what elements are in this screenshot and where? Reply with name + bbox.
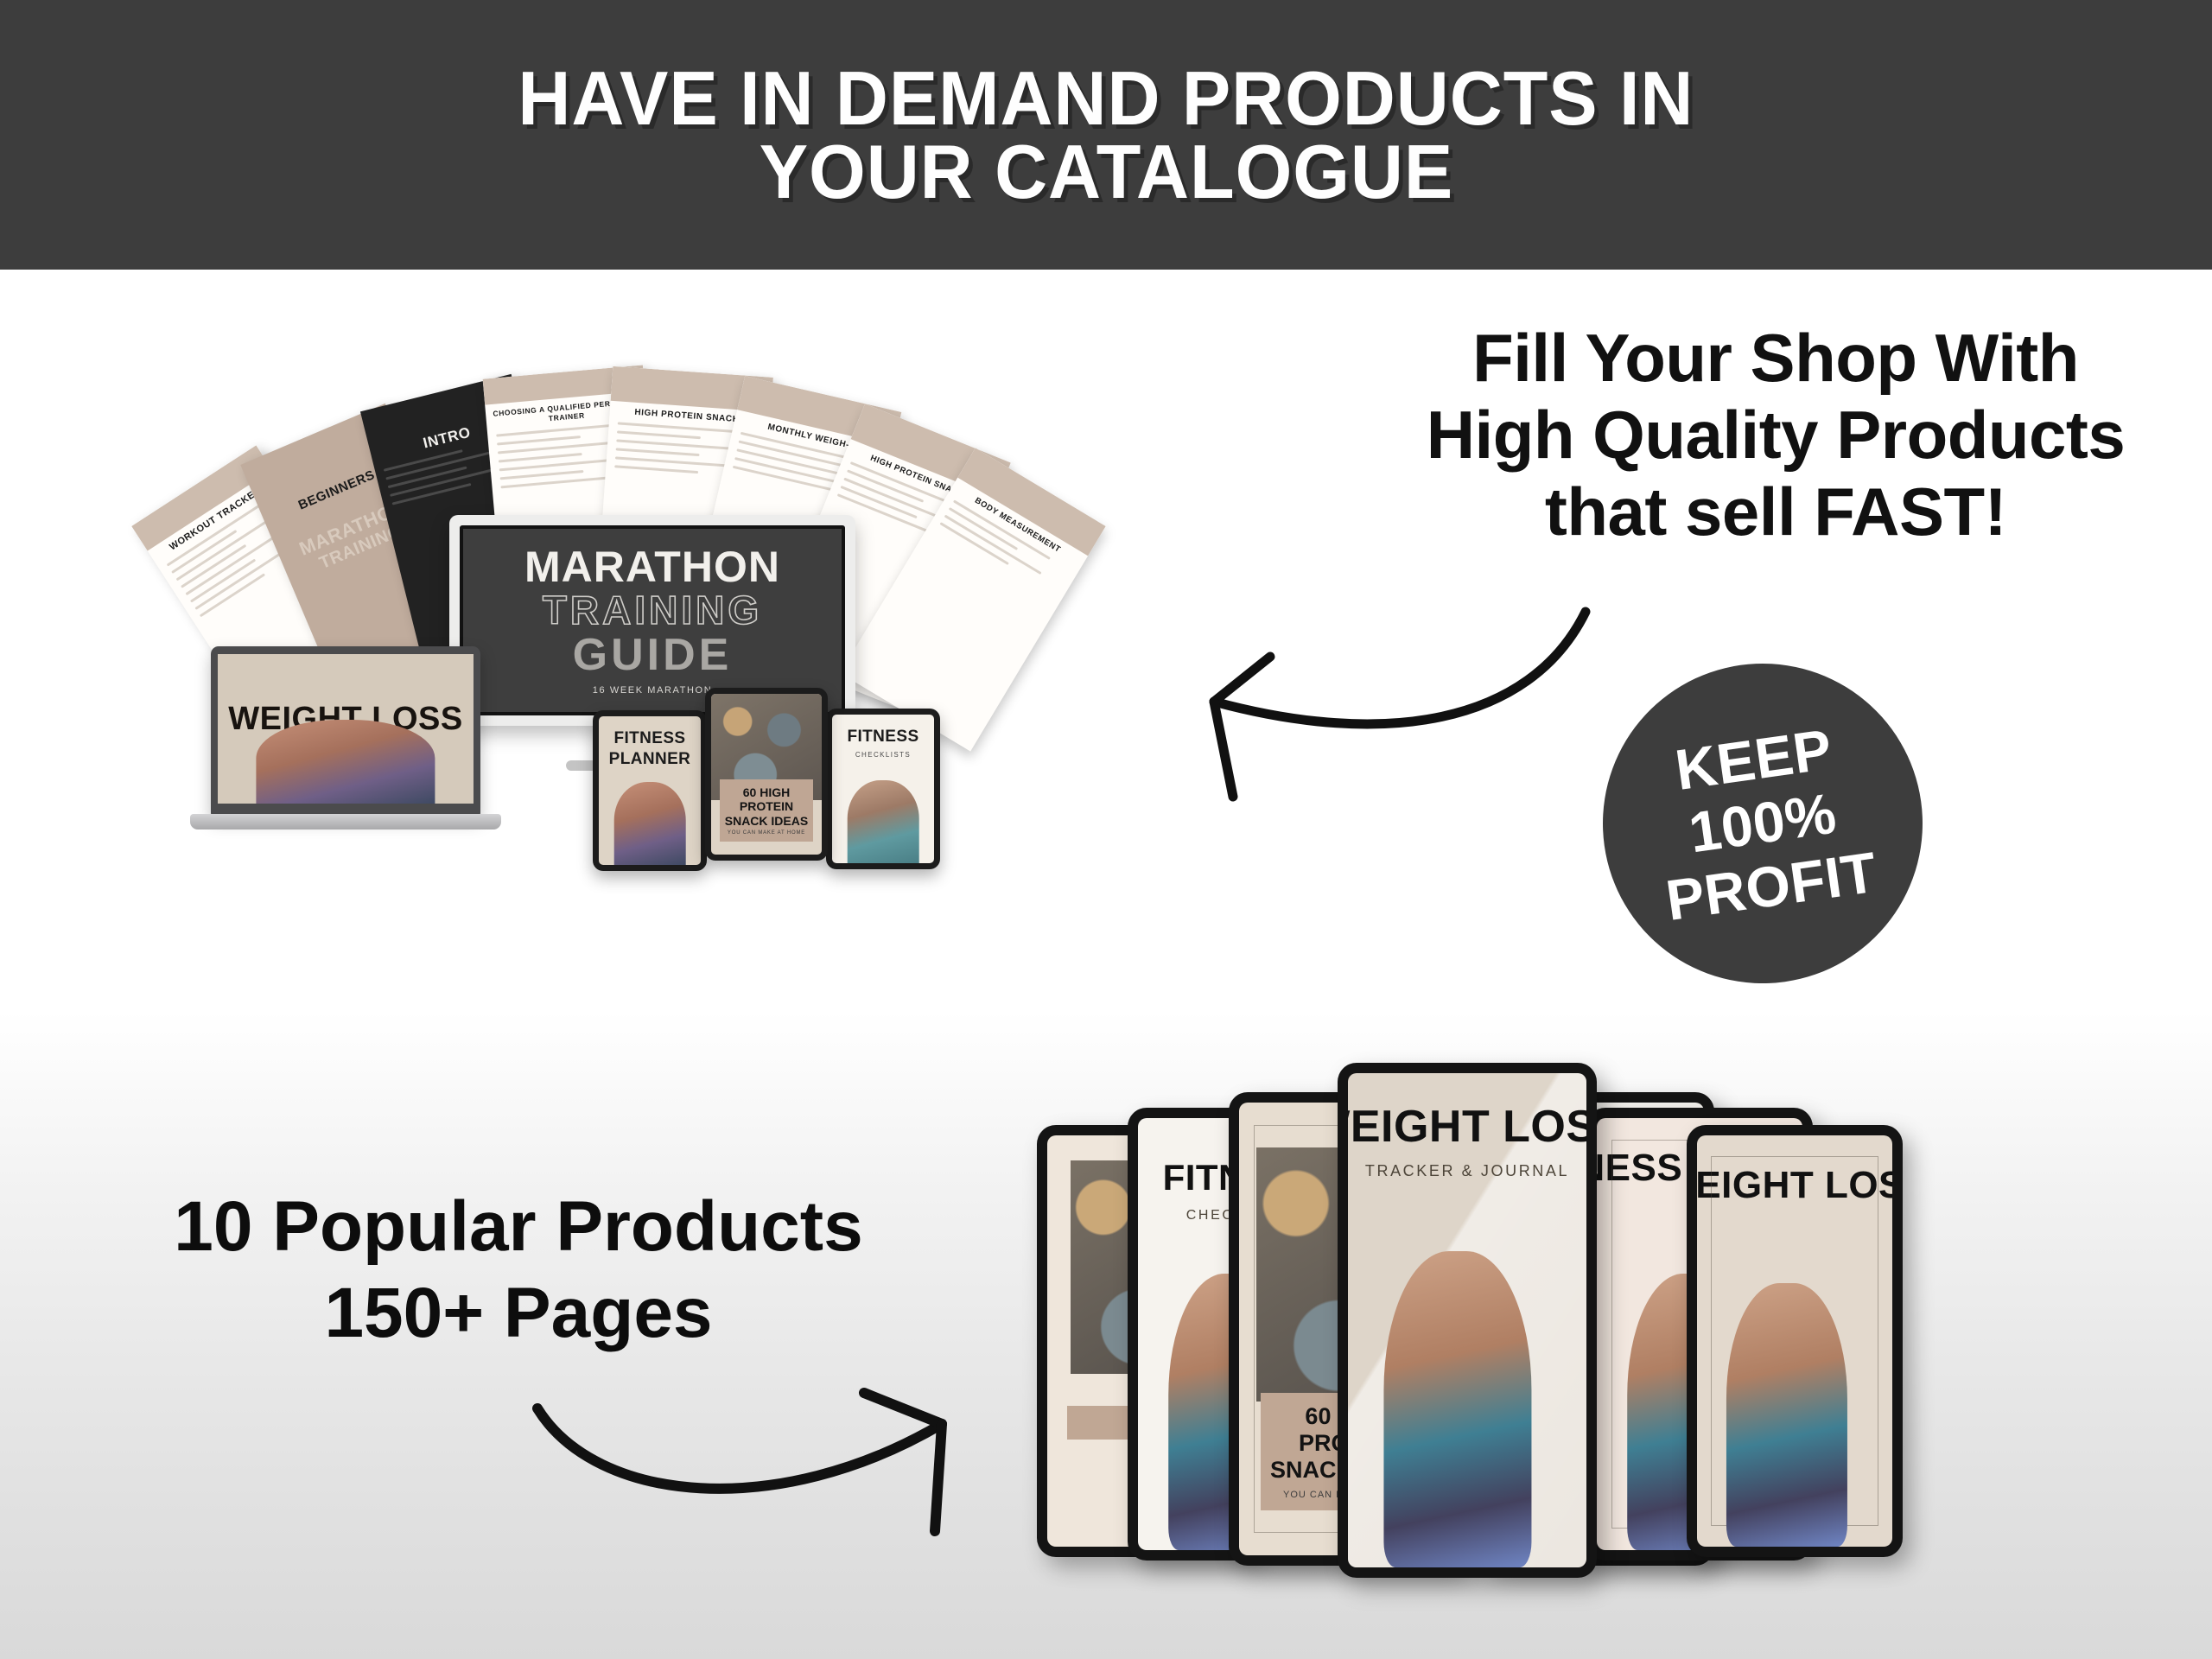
fan-runner-figure (1383, 1251, 1531, 1567)
laptop-base (190, 814, 501, 829)
curved-arrow-right-icon (493, 1374, 976, 1590)
fan-tablet-weight-loss-front: WEIGHT LOSS TRACKER & JOURNAL (1338, 1063, 1597, 1578)
header-title-line1: HAVE IN DEMAND PRODUCTS IN (518, 61, 1694, 135)
laptop-cover-figure (256, 720, 435, 804)
tablet-figure (848, 780, 919, 863)
header-banner: HAVE IN DEMAND PRODUCTS IN YOUR CATALOGU… (0, 0, 2212, 270)
monitor-title: MARATHON (524, 545, 780, 588)
fan-subtitle: TRACKER & JOURNAL (1365, 1162, 1569, 1180)
laptop-lid: WEIGHT LOSS TRACKER & JOURNAL (211, 646, 480, 816)
snack-line4: YOU CAN MAKE AT HOME (723, 830, 810, 836)
tablet-screen: WEIGHT LOSS (1697, 1135, 1892, 1547)
pitch-line1: Fill Your Shop With (1395, 320, 2156, 397)
snack-line2: PROTEIN (723, 799, 810, 814)
tablet-title: FITNESS (847, 727, 918, 747)
arrow-to-products-bottom (493, 1374, 976, 1594)
tablet-screen: WEIGHT LOSS TRACKER & JOURNAL (1348, 1073, 1586, 1567)
tablet-screen: 60 HIGH PROTEIN SNACK IDEAS YOU CAN MAKE… (711, 694, 822, 855)
fan-title: WEIGHT LOSS (1348, 1103, 1586, 1152)
product-count-block: 10 Popular Products 150+ Pages (156, 1184, 881, 1357)
tablet-figure (614, 782, 686, 865)
curved-arrow-left-icon (1184, 596, 1599, 855)
monitor-caption: 16 WEEK MARATHON (593, 685, 712, 696)
pitch-line2: High Quality Products (1395, 397, 2156, 474)
snack-line3: SNACK IDEAS (723, 814, 810, 829)
snack-line1: 60 HIGH (723, 785, 810, 800)
laptop-mockup: WEIGHT LOSS TRACKER & JOURNAL (190, 646, 501, 862)
snack-caption: 60 HIGH PROTEIN SNACK IDEAS YOU CAN MAKE… (720, 779, 813, 842)
tablet-fitness-planner: FITNESSPLANNER (593, 710, 707, 871)
fan-figure (1726, 1283, 1847, 1547)
monitor-screen: MARATHON TRAINING GUIDE 16 WEEK MARATHON (460, 525, 845, 715)
header-title-line2: YOUR CATALOGUE (759, 135, 1452, 208)
tablet-subtitle: CHECKLISTS (855, 751, 911, 759)
tablet-screen: FITNESSPLANNER (599, 716, 701, 865)
count-line2: 150+ Pages (156, 1270, 881, 1357)
arrow-to-products-top (1184, 596, 1599, 860)
tablet-title: FITNESSPLANNER (609, 728, 691, 770)
pitch-headline: Fill Your Shop With High Quality Product… (1395, 320, 2156, 550)
monitor-word3: GUIDE (573, 632, 733, 677)
bottom-tablet-fan: ACAI FITNESS CHECKLISTS 60 HIGH PROTEIN … (1037, 1063, 2195, 1624)
tablet-protein-snacks: 60 HIGH PROTEIN SNACK IDEAS YOU CAN MAKE… (705, 688, 828, 861)
laptop-screen: WEIGHT LOSS TRACKER & JOURNAL (218, 654, 474, 804)
top-product-mockup-cluster: WORKOUT TRACKER BEGINNERS MARATHON TRAIN… (190, 285, 1123, 959)
tablet-screen: FITNESS CHECKLISTS (832, 715, 934, 863)
pitch-line3: that sell FAST! (1395, 474, 2156, 550)
fan-tablet-weight-loss-right: WEIGHT LOSS (1687, 1125, 1903, 1557)
tablet-fitness-checklists: FITNESS CHECKLISTS (826, 709, 940, 869)
count-line1: 10 Popular Products (156, 1184, 881, 1270)
monitor-subtitle: TRAINING (543, 588, 762, 632)
